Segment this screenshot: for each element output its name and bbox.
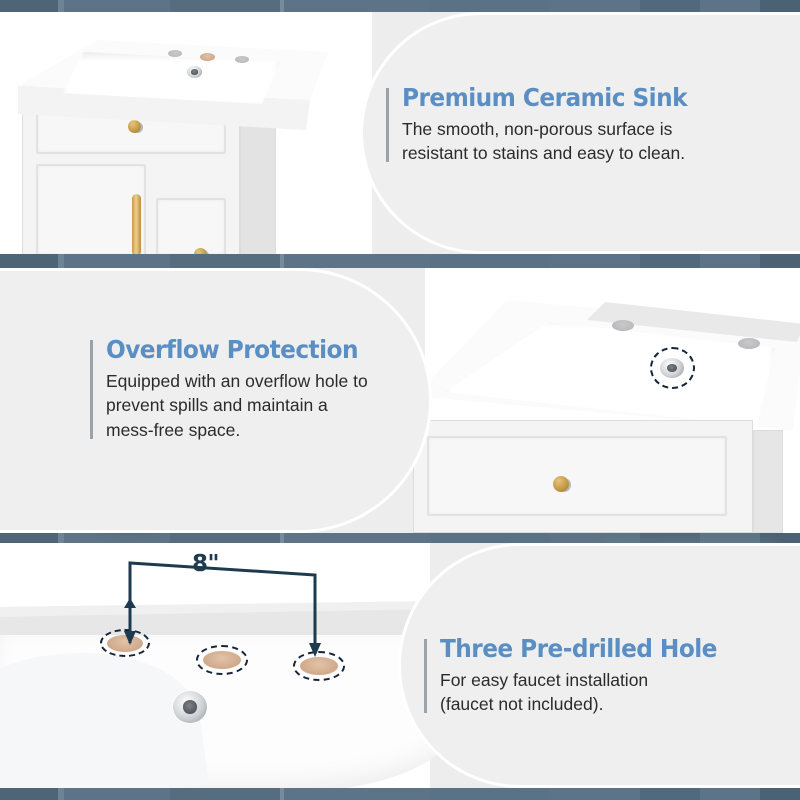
feature-panel-three-pre-drilled-hole: 8" Three Pre-drilled Hole For easy fauce…	[0, 543, 800, 788]
tap-hole-center	[200, 53, 215, 61]
vanity-cabinet-door	[36, 164, 146, 254]
tap-hole-right	[235, 56, 249, 63]
feature-body-line-1: The smooth, non-porous surface is	[402, 117, 746, 142]
product-photo-vanity	[0, 12, 372, 254]
drawer-knob-top	[128, 120, 141, 133]
dimension-callout	[90, 543, 390, 663]
product-photo-overflow	[425, 268, 800, 533]
accent-bar	[424, 639, 427, 713]
vanity-top-drawer	[427, 436, 727, 516]
feature-body-line-1: Equipped with an overflow hole to	[106, 369, 440, 394]
overflow-hole	[173, 691, 207, 723]
feature-text-block: Three Pre-drilled Hole For easy faucet i…	[424, 635, 774, 717]
feature-body-line-2: (faucet not included).	[440, 692, 774, 717]
tap-hole-left	[168, 50, 182, 57]
drawer-knob-bottom	[194, 248, 207, 254]
overflow-callout-ring	[650, 347, 695, 389]
feature-body-line-2: resistant to stains and easy to clean.	[402, 141, 746, 166]
feature-panel-overflow-protection: Overflow Protection Equipped with an ove…	[0, 268, 800, 533]
feature-panel-premium-ceramic-sink: Premium Ceramic Sink The smooth, non-por…	[0, 12, 800, 254]
feature-heading: Overflow Protection	[106, 336, 417, 364]
tap-hole-right	[738, 338, 760, 349]
accent-bar	[386, 88, 389, 162]
feature-heading: Three Pre-drilled Hole	[440, 635, 751, 663]
feature-text-block: Premium Ceramic Sink The smooth, non-por…	[386, 84, 746, 166]
vanity-bottom-drawer	[156, 198, 226, 254]
feature-heading: Premium Ceramic Sink	[402, 84, 722, 112]
feature-text-block: Overflow Protection Equipped with an ove…	[90, 336, 440, 443]
feature-body-line-3: mess-free space.	[106, 418, 440, 443]
vanity-side-panel	[753, 430, 783, 533]
cabinet-door-handle	[132, 194, 141, 254]
overflow-hole	[187, 66, 202, 78]
product-photo-pre-drilled-holes: 8"	[0, 543, 430, 788]
drawer-knob	[553, 476, 569, 492]
feature-body-line-1: For easy faucet installation	[440, 668, 774, 693]
feature-body-line-2: prevent spills and maintain a	[106, 393, 440, 418]
accent-bar	[90, 340, 93, 439]
tap-hole-left	[612, 320, 634, 331]
